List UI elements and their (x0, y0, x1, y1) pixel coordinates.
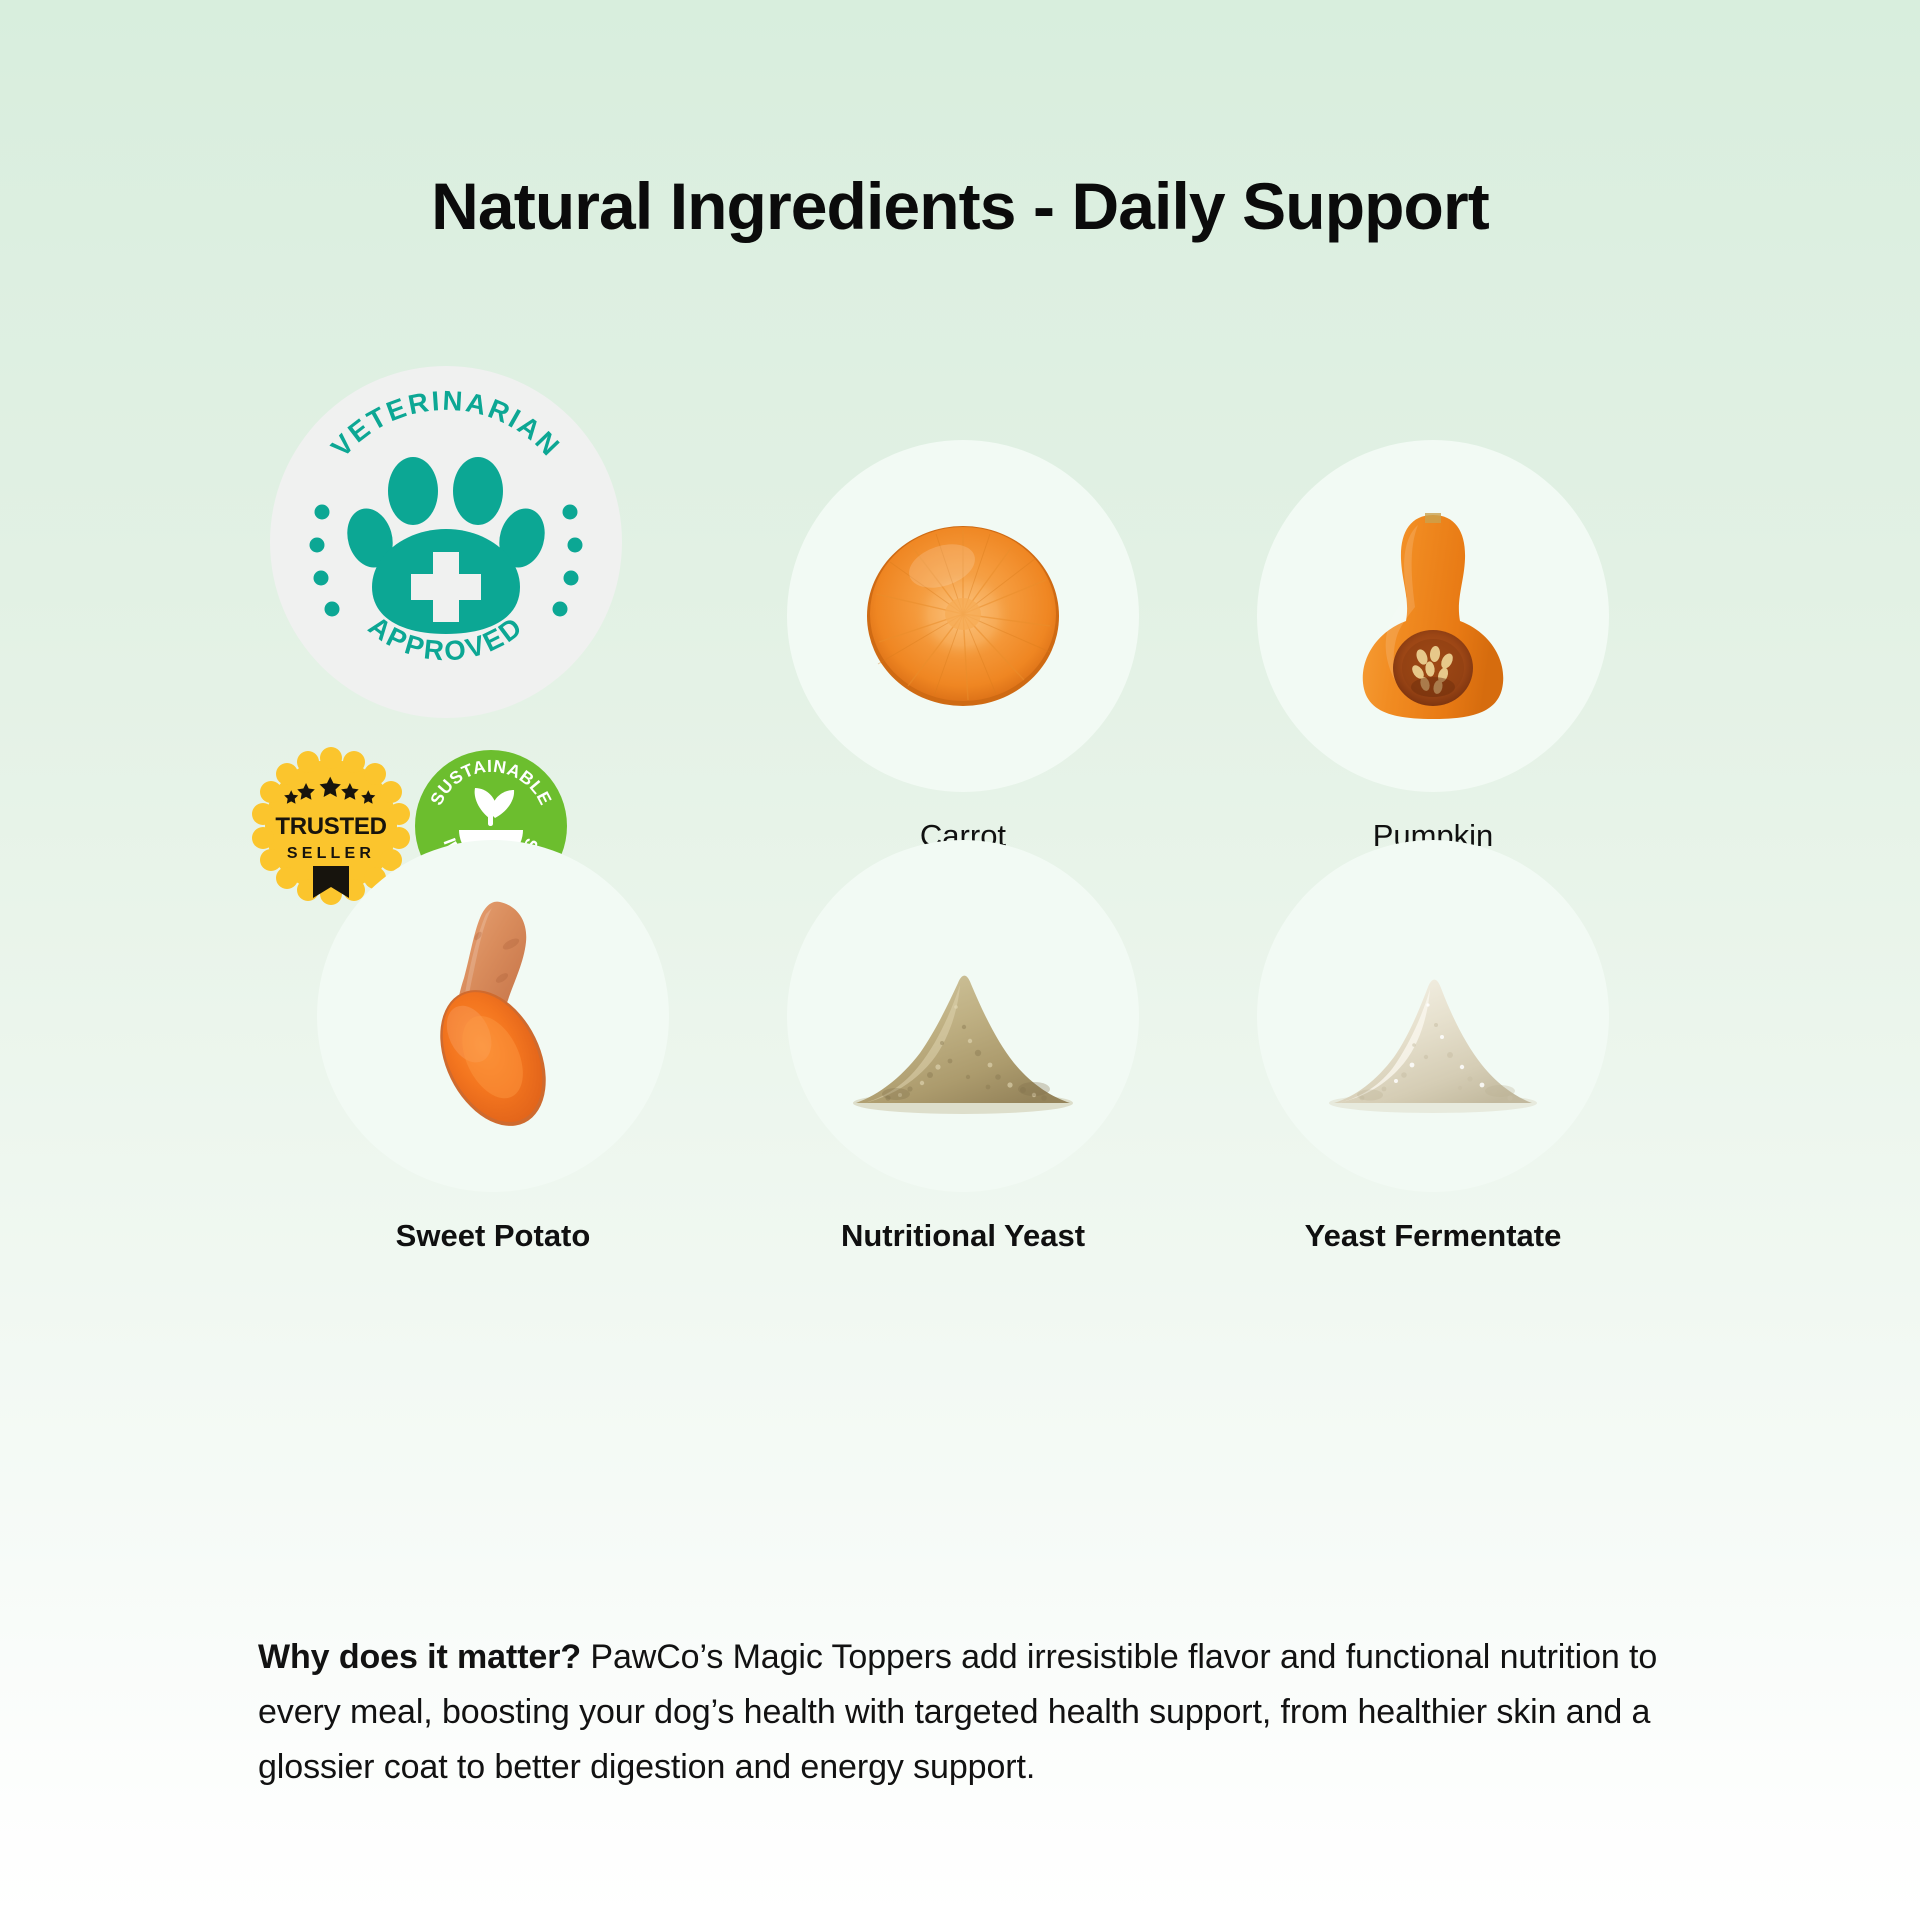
page-title: Natural Ingredients - Daily Support (0, 172, 1920, 241)
certification-badges-cell: VETERINARIAN APPROVED (258, 440, 728, 840)
pumpkin-half-image (1352, 511, 1514, 721)
why-it-matters-paragraph: Why does it matter? PawCo’s Magic Topper… (258, 1630, 1678, 1795)
ingredient-label: Yeast Fermentate (1198, 1218, 1668, 1254)
yeast-powder-pile-image (838, 957, 1088, 1117)
ingredient-disc (787, 840, 1139, 1192)
ingredient-disc (787, 440, 1139, 792)
ingredient-disc (1257, 440, 1609, 792)
ingredient-cell-sweet-potato: Sweet Potato (258, 840, 728, 1240)
fermentate-powder-pile-image (1308, 957, 1558, 1117)
why-it-matters-lead: Why does it matter? (258, 1638, 581, 1676)
ingredient-cell-carrot: Carrot (728, 440, 1198, 840)
ingredient-grid: VETERINARIAN APPROVED (258, 440, 1668, 1240)
ingredient-disc (1257, 840, 1609, 1192)
ingredient-disc (317, 840, 669, 1192)
sweet-potato-image (416, 896, 570, 1136)
ingredient-label: Sweet Potato (258, 1218, 728, 1254)
ingredient-cell-nutritional-yeast: Nutritional Yeast (728, 840, 1198, 1240)
svg-text:TRUSTED: TRUSTED (275, 813, 386, 840)
carrot-slice-image (864, 522, 1062, 710)
ingredient-cell-pumpkin: Pumpkin (1198, 440, 1668, 840)
ingredient-cell-yeast-fermentate: Yeast Fermentate (1198, 840, 1668, 1240)
veterinarian-approved-badge: VETERINARIAN APPROVED (270, 366, 622, 718)
ingredient-label: Nutritional Yeast (728, 1218, 1198, 1254)
